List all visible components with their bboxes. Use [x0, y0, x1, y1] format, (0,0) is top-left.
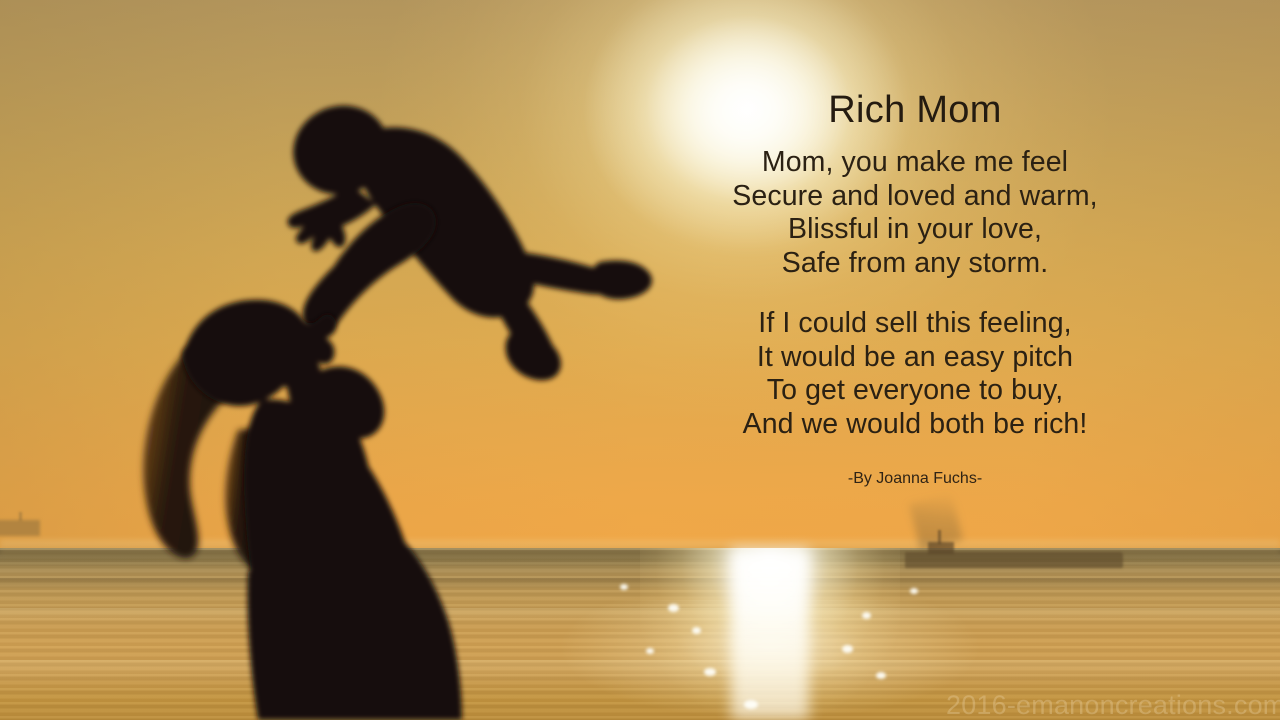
- ocean-band-light: [0, 608, 1280, 626]
- poem-stanza-1: Mom, you make me feel Secure and loved a…: [660, 146, 1170, 280]
- poem-line: Safe from any storm.: [660, 247, 1170, 281]
- ocean-band-light: [0, 660, 1280, 682]
- stanza-spacer: [660, 280, 1170, 307]
- poem-stanza-2: If I could sell this feeling, It would b…: [660, 307, 1170, 441]
- ocean-band-dark: [0, 578, 1280, 590]
- cargo-ship-right: [905, 552, 1123, 568]
- poem-line: Mom, you make me feel: [660, 146, 1170, 180]
- ship-left-mast: [19, 512, 22, 521]
- poem-line: And we would both be rich!: [660, 408, 1170, 442]
- poem-block: Rich Mom Mom, you make me feel Secure an…: [660, 86, 1170, 489]
- poem-byline: -By Joanna Fuchs-: [660, 469, 1170, 489]
- page-title: Rich Mom: [660, 86, 1170, 134]
- poem-line: Blissful in your love,: [660, 213, 1170, 247]
- ship-left: [0, 520, 40, 536]
- poem-line: To get everyone to buy,: [660, 374, 1170, 408]
- poem-line: Secure and loved and warm,: [660, 180, 1170, 214]
- poem-line: It would be an easy pitch: [660, 341, 1170, 375]
- poem-line: If I could sell this feeling,: [660, 307, 1170, 341]
- watermark: 2016-emanoncreations.com: [946, 690, 1280, 720]
- sunset-poem-image: Rich Mom Mom, you make me feel Secure an…: [0, 0, 1280, 720]
